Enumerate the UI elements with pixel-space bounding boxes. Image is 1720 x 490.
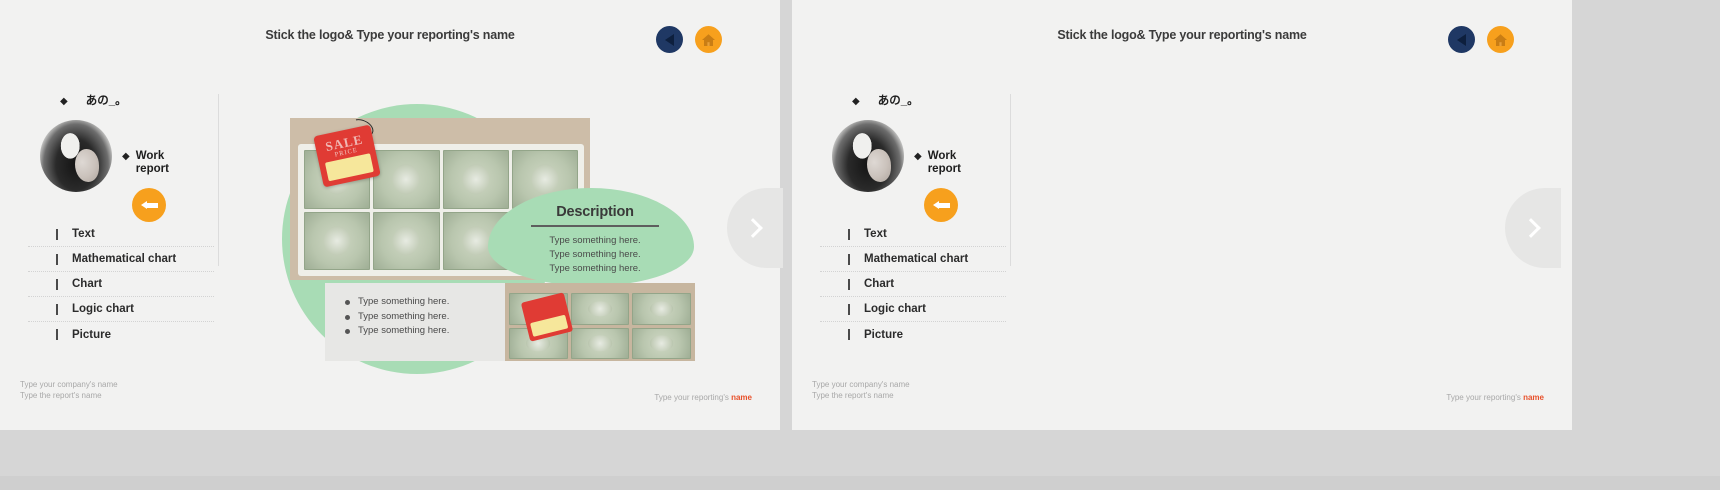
arrow-left-icon [933, 201, 950, 210]
home-icon [1493, 33, 1508, 47]
slide-2-footer-right: Type your reporting's name [1446, 393, 1544, 402]
nav-item-label: Text [864, 228, 887, 240]
nav-item-chart[interactable]: Chart [28, 272, 214, 297]
bar-icon [848, 329, 850, 340]
slide-2[interactable]: Stick the logo& Type your reporting's na… [792, 0, 1572, 430]
chevron-right-icon [1521, 218, 1541, 238]
slide-2-nav-list: Text Mathematical chart Chart Logic char… [820, 222, 1006, 347]
home-button[interactable] [1487, 26, 1514, 53]
jp-label-row: ◆ あの_。 [852, 92, 1010, 108]
diamond-bullet-icon: ◆ [914, 152, 922, 162]
description-block: Description Type something here. Type so… [500, 204, 690, 276]
bullet-text: Type something here. [358, 324, 449, 339]
avatar-row: ◆ Work report [40, 120, 218, 222]
jp-label-row: ◆ あの_。 [60, 92, 218, 108]
work-report-block: ◆ Work report [122, 120, 192, 222]
bullet-item: Type something here. [345, 310, 449, 325]
chevron-right-icon [743, 218, 763, 238]
diamond-bullet-icon: ◆ [122, 152, 130, 162]
footer-report-name: Type the report's name [812, 390, 910, 402]
nav-item-logic-chart[interactable]: Logic chart [820, 297, 1006, 322]
bar-icon [848, 304, 850, 315]
nav-item-chart[interactable]: Chart [820, 272, 1006, 297]
prev-arrow-button[interactable] [132, 188, 166, 222]
nav-item-label: Logic chart [72, 303, 134, 315]
slide-gallery: Stick the logo& Type your reporting's na… [0, 0, 1720, 490]
triangle-left-icon [665, 34, 674, 46]
home-button[interactable] [695, 26, 722, 53]
bottom-strip-lower [0, 476, 1720, 490]
work-report-label: Work report [928, 150, 984, 176]
bar-icon [56, 279, 58, 290]
footer-report-name: Type the report's name [20, 390, 118, 402]
nav-item-picture[interactable]: Picture [28, 322, 214, 347]
bar-icon [848, 279, 850, 290]
bottom-strip [0, 430, 1720, 490]
jp-label: あの_。 [86, 92, 127, 108]
panel-divider [1010, 94, 1011, 266]
nav-item-logic-chart[interactable]: Logic chart [28, 297, 214, 322]
nav-item-label: Text [72, 228, 95, 240]
back-button[interactable] [1448, 26, 1475, 53]
nav-item-text[interactable]: Text [820, 222, 1006, 247]
money-photo-secondary [505, 283, 695, 361]
slide-1[interactable]: Stick the logo& Type your reporting's na… [0, 0, 780, 430]
footer-right-prefix: Type your reporting's [654, 393, 731, 402]
nav-item-label: Chart [864, 278, 894, 290]
nav-item-mathematical-chart[interactable]: Mathematical chart [820, 247, 1006, 272]
bullet-item: Type something here. [345, 295, 449, 310]
slide-2-header-buttons [1448, 26, 1514, 53]
avatar-row: ◆ Work report [832, 120, 1010, 222]
bullet-dot-icon [345, 300, 350, 305]
slide-1-profile-panel: ◆ あの_。 ◆ Work report [40, 92, 218, 222]
bullet-list: Type something here. Type something here… [345, 295, 449, 339]
back-button[interactable] [656, 26, 683, 53]
slide-1-footer-left: Type your company's name Type the report… [20, 379, 118, 402]
work-report-block: ◆ Work report [914, 120, 984, 222]
bar-icon [848, 254, 850, 265]
nav-item-label: Mathematical chart [864, 253, 968, 265]
nav-item-label: Mathematical chart [72, 253, 176, 265]
slide-2-footer-left: Type your company's name Type the report… [812, 379, 910, 402]
footer-right-highlight: name [731, 393, 752, 402]
panel-divider [218, 94, 219, 266]
description-rule [531, 225, 659, 227]
nav-item-label: Picture [72, 329, 111, 341]
description-line: Type something here. [500, 262, 690, 276]
home-icon [701, 33, 716, 47]
description-line: Type something here. [500, 248, 690, 262]
avatar [40, 120, 112, 192]
nav-item-picture[interactable]: Picture [820, 322, 1006, 347]
nav-item-text[interactable]: Text [28, 222, 214, 247]
bar-icon [56, 229, 58, 240]
triangle-left-icon [1457, 34, 1466, 46]
bar-icon [56, 329, 58, 340]
nav-item-label: Picture [864, 329, 903, 341]
bullet-text: Type something here. [358, 295, 449, 310]
prev-arrow-button[interactable] [924, 188, 958, 222]
bullet-text: Type something here. [358, 310, 449, 325]
bullet-dot-icon [345, 315, 350, 320]
arrow-left-icon [141, 201, 158, 210]
footer-company-name: Type your company's name [20, 379, 118, 391]
nav-item-label: Logic chart [864, 303, 926, 315]
description-line: Type something here. [500, 234, 690, 248]
jp-label: あの_。 [878, 92, 919, 108]
nav-item-mathematical-chart[interactable]: Mathematical chart [28, 247, 214, 272]
work-report-label: Work report [136, 150, 192, 176]
slide-2-profile-panel: ◆ あの_。 ◆ Work report [832, 92, 1010, 222]
bar-icon [848, 229, 850, 240]
slide-1-footer-right: Type your reporting's name [654, 393, 752, 402]
bar-icon [56, 304, 58, 315]
footer-right-highlight: name [1523, 393, 1544, 402]
bullet-dot-icon [345, 329, 350, 334]
bar-icon [56, 254, 58, 265]
description-title: Description [500, 204, 690, 220]
footer-company-name: Type your company's name [812, 379, 910, 391]
slide-1-nav-list: Text Mathematical chart Chart Logic char… [28, 222, 214, 347]
footer-right-prefix: Type your reporting's [1446, 393, 1523, 402]
avatar [832, 120, 904, 192]
diamond-bullet-icon: ◆ [60, 97, 68, 107]
diamond-bullet-icon: ◆ [852, 97, 860, 107]
sale-tag-yellow-area [530, 315, 568, 337]
nav-item-label: Chart [72, 278, 102, 290]
slide-1-header-buttons [656, 26, 722, 53]
bullet-item: Type something here. [345, 324, 449, 339]
